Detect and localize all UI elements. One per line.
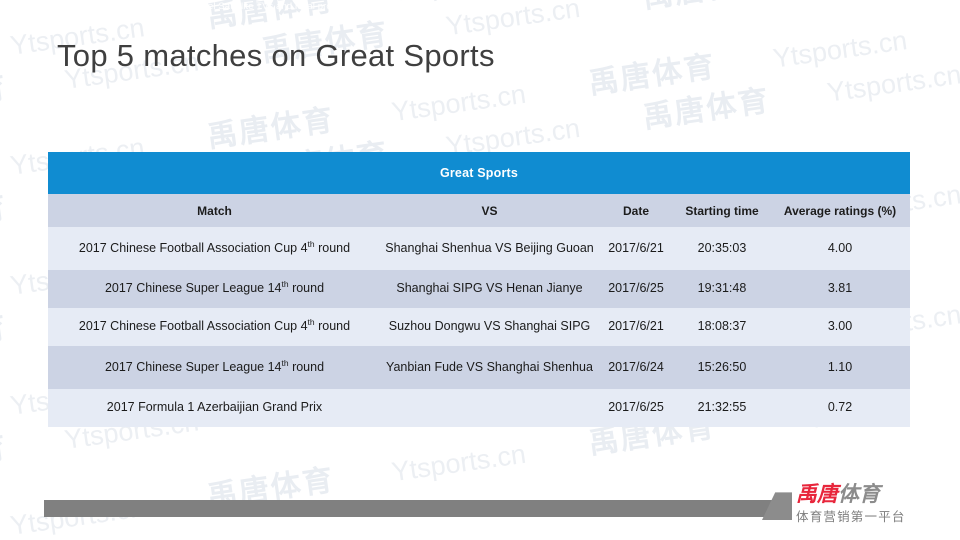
cell-match: 2017 Chinese Football Association Cup 4t… bbox=[48, 227, 381, 270]
table-row[interactable]: 2017 Chinese Super League 14th round Sha… bbox=[48, 270, 910, 308]
cell-date: 2017/6/21 bbox=[598, 308, 674, 346]
watermark-chinese: 禹唐体育 bbox=[205, 103, 337, 155]
watermark-chinese: 禹唐体育 bbox=[586, 49, 718, 101]
column-header-vs[interactable]: VS bbox=[381, 194, 598, 227]
table-band-row: Great Sports bbox=[48, 152, 910, 194]
cell-avg: 3.00 bbox=[770, 308, 910, 346]
table-row[interactable]: 2017 Formula 1 Azerbaijian Grand Prix 20… bbox=[48, 389, 910, 427]
cell-time: 15:26:50 bbox=[674, 346, 770, 389]
watermark-chinese: 禹唐体育 bbox=[0, 70, 10, 122]
table-header-row: Match VS Date Starting time Average rati… bbox=[48, 194, 910, 227]
cell-avg: 1.10 bbox=[770, 346, 910, 389]
column-header-date[interactable]: Date bbox=[598, 194, 674, 227]
brand-name: 禹唐体育 bbox=[796, 484, 906, 505]
watermark-chinese: 禹唐体育 bbox=[0, 190, 10, 242]
cell-match: 2017 Chinese Super League 14th round bbox=[48, 346, 381, 389]
brand-tagline: 体育营销第一平台 bbox=[796, 511, 906, 524]
brand-logo: 禹唐体育 体育营销第一平台 bbox=[762, 484, 906, 524]
data-source-bar bbox=[44, 500, 790, 517]
brand-name-red: 禹唐 bbox=[796, 482, 838, 506]
cell-avg: 4.00 bbox=[770, 227, 910, 270]
cell-avg: 0.72 bbox=[770, 389, 910, 427]
cell-date: 2017/6/25 bbox=[598, 389, 674, 427]
column-header-time[interactable]: Starting time bbox=[674, 194, 770, 227]
page-title: Top 5 matches on Great Sports bbox=[57, 38, 495, 74]
ordinal-suffix: th bbox=[308, 317, 315, 327]
cell-match: 2017 Formula 1 Azerbaijian Grand Prix bbox=[48, 389, 381, 427]
quadrilateral-mark-icon bbox=[762, 490, 792, 520]
cell-vs: Shanghai Shenhua VS Beijing Guoan bbox=[381, 227, 598, 270]
brand-name-gray: 体育 bbox=[838, 482, 880, 506]
watermark-chinese: 禹唐体育 bbox=[641, 0, 773, 16]
data-source-text: Data Source: CSM, 4+ age groups, 35 City… bbox=[8, 1, 421, 12]
ratings-table: Great Sports Match VS Date Starting time… bbox=[48, 152, 910, 427]
column-header-avg[interactable]: Average ratings (%) bbox=[770, 194, 910, 227]
watermark-chinese: 禹唐体育 bbox=[0, 430, 10, 482]
cell-vs bbox=[381, 389, 598, 427]
cell-date: 2017/6/24 bbox=[598, 346, 674, 389]
cell-vs: Yanbian Fude VS Shanghai Shenhua bbox=[381, 346, 598, 389]
watermark-english: Ytsports.cn bbox=[771, 25, 909, 74]
table-row[interactable]: 2017 Chinese Football Association Cup 4t… bbox=[48, 308, 910, 346]
cell-match: 2017 Chinese Super League 14th round bbox=[48, 270, 381, 308]
cell-avg: 3.81 bbox=[770, 270, 910, 308]
cell-vs: Suzhou Dongwu VS Shanghai SIPG bbox=[381, 308, 598, 346]
cell-vs: Shanghai SIPG VS Henan Jianye bbox=[381, 270, 598, 308]
watermark-english: Ytsports.cn bbox=[825, 59, 960, 108]
table-band-title: Great Sports bbox=[48, 152, 910, 194]
column-header-match[interactable]: Match bbox=[48, 194, 381, 227]
watermark-english: Ytsports.cn bbox=[390, 79, 528, 128]
cell-time: 21:32:55 bbox=[674, 389, 770, 427]
cell-time: 20:35:03 bbox=[674, 227, 770, 270]
ordinal-suffix: th bbox=[282, 358, 289, 368]
watermark-chinese: 禹唐体育 bbox=[0, 310, 10, 362]
table-row[interactable]: 2017 Chinese Super League 14th round Yan… bbox=[48, 346, 910, 389]
table-row[interactable]: 2017 Chinese Football Association Cup 4t… bbox=[48, 227, 910, 270]
brand-wordmark: 禹唐体育 体育营销第一平台 bbox=[796, 484, 906, 524]
cell-match: 2017 Chinese Football Association Cup 4t… bbox=[48, 308, 381, 346]
ordinal-suffix: th bbox=[308, 239, 315, 249]
watermark-english: Ytsports.cn bbox=[444, 0, 582, 41]
cell-date: 2017/6/25 bbox=[598, 270, 674, 308]
watermark-chinese: 禹唐体育 bbox=[641, 83, 773, 135]
cell-date: 2017/6/21 bbox=[598, 227, 674, 270]
watermark-english: Ytsports.cn bbox=[390, 439, 528, 488]
cell-time: 19:31:48 bbox=[674, 270, 770, 308]
ordinal-suffix: th bbox=[282, 279, 289, 289]
cell-time: 18:08:37 bbox=[674, 308, 770, 346]
table-body: 2017 Chinese Football Association Cup 4t… bbox=[48, 227, 910, 427]
